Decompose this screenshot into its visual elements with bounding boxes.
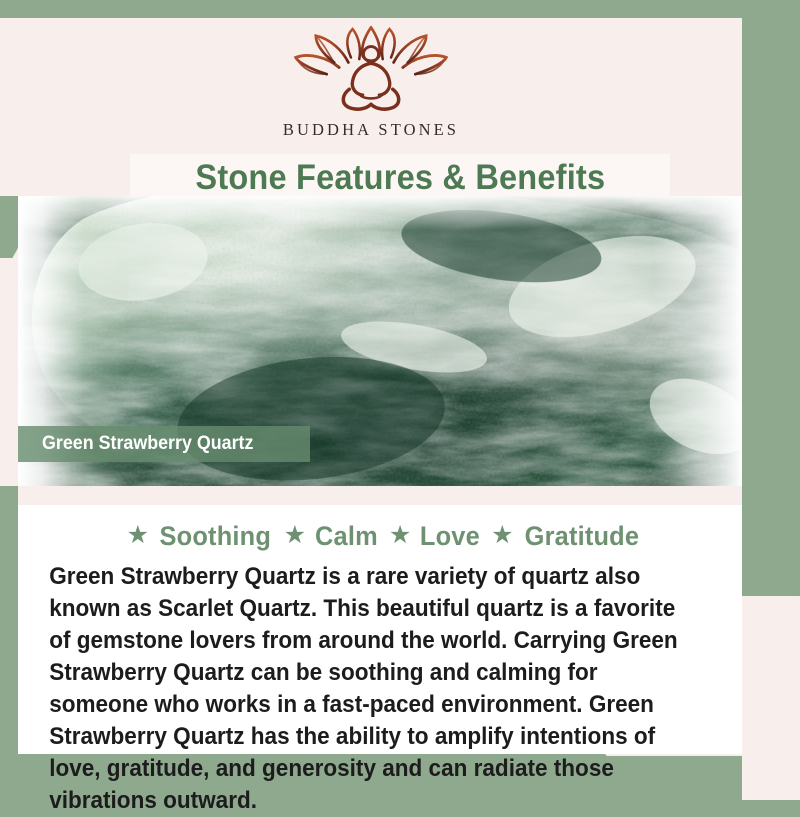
star-icon: ★ xyxy=(284,523,306,548)
keyword-list: ★ Soothing ★ Calm ★ Love ★ Gratitude xyxy=(32,521,728,552)
keyword-label: Love xyxy=(420,521,480,552)
description-text: Green Strawberry Quartz is a rare variet… xyxy=(32,561,697,817)
star-icon: ★ xyxy=(491,523,513,548)
keyword-item: ★ Love xyxy=(380,521,482,552)
keyword-label: Calm xyxy=(315,521,378,552)
star-icon: ★ xyxy=(127,523,149,548)
left-green-accent-wedge xyxy=(0,196,20,258)
right-lower-panel xyxy=(742,596,800,800)
header: BUDDHA STONES Stone Features & Benefits xyxy=(0,18,742,196)
photo-right-fade xyxy=(652,196,742,486)
keyword-label: Soothing xyxy=(160,521,271,552)
keyword-item: ★ Calm xyxy=(275,521,380,552)
page-title: Stone Features & Benefits xyxy=(195,158,605,198)
keyword-item: ★ Gratitude xyxy=(482,521,642,552)
photo-caption-bar: Green Strawberry Quartz xyxy=(18,426,310,462)
keyword-label: Gratitude xyxy=(524,521,639,552)
brand-logo-block: BUDDHA STONES xyxy=(0,24,742,140)
title-banner: Stone Features & Benefits xyxy=(130,154,670,202)
left-green-accent-rail xyxy=(0,486,18,754)
lotus-meditation-logo-icon xyxy=(287,24,455,116)
star-icon: ★ xyxy=(389,523,411,548)
right-green-accent-strip xyxy=(742,0,800,598)
brand-name: BUDDHA STONES xyxy=(283,120,459,140)
keyword-item: ★ Soothing xyxy=(118,521,275,552)
photo-caption-label: Green Strawberry Quartz xyxy=(42,433,253,455)
content-card: ★ Soothing ★ Calm ★ Love ★ Gratitude Gre… xyxy=(18,505,742,754)
stone-photo: Green Strawberry Quartz xyxy=(18,196,742,486)
